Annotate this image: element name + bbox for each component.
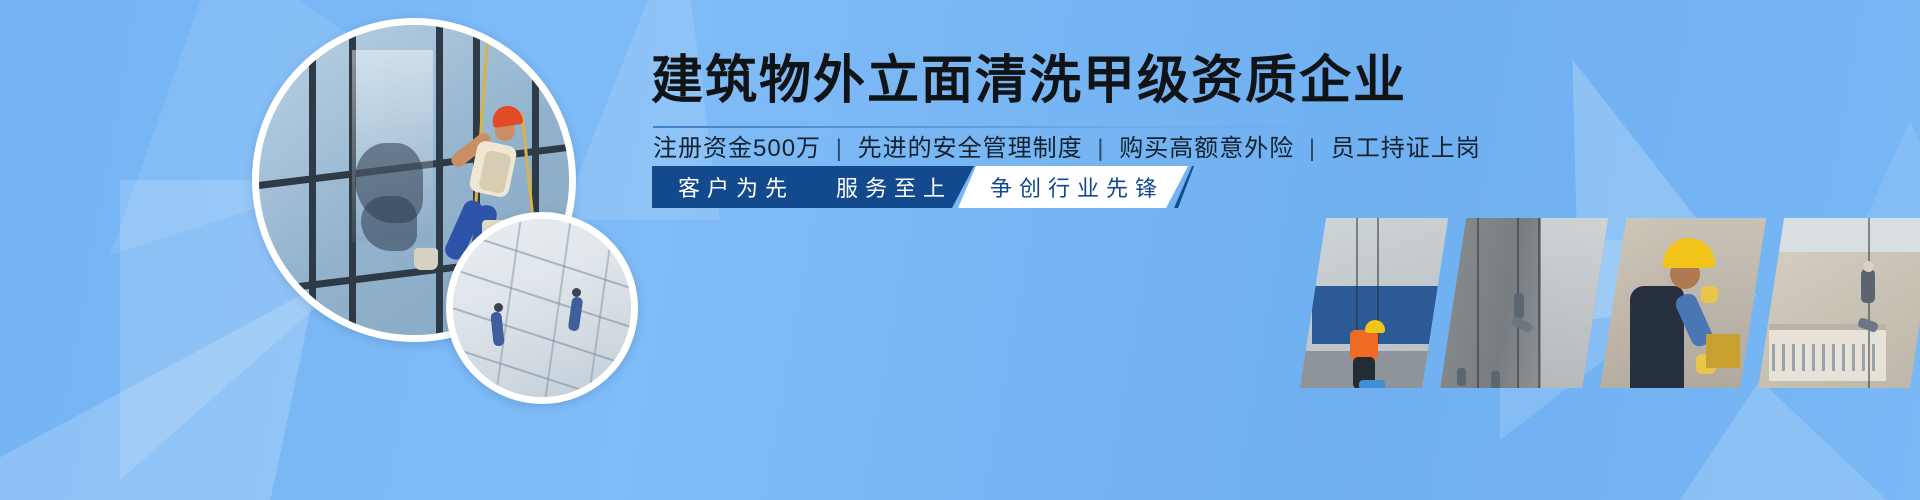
worker-head [1863,261,1874,272]
safety-rope [1356,218,1358,344]
headline-divider [653,126,1293,128]
subtitle-item-2: 先进的安全管理制度 [858,135,1083,162]
wall-left [1440,218,1548,388]
worker-silhouette [1861,269,1875,303]
wall-right [1541,218,1608,388]
montage-slice-4 [1758,218,1920,388]
balcony-wall-scene [1758,218,1920,388]
worker-silhouette [1457,368,1466,386]
montage-slice-3 [1600,218,1766,388]
photo-montage [1300,218,1920,388]
photo-circle-small [446,212,638,404]
safety-rope [1868,218,1870,388]
headline: 建筑物外立面清洗甲级资质企业 [651,52,1407,110]
window-band [1312,286,1448,344]
building-blue-windows [1300,218,1448,388]
slogan-bar: 客户为先 服务至上 争创行业先锋 [652,166,1194,208]
worker-silhouette [1491,371,1500,388]
work-bucket [414,248,438,270]
subtitle-item-4: 员工持证上岗 [1331,135,1481,162]
subtitle-separator: | [1302,135,1323,162]
mullion-vertical [436,25,443,335]
work-panel [1706,334,1740,368]
worker-silhouette [1514,293,1524,319]
banner-content: 建筑物外立面清洗甲级资质企业 注册资金500万 | 先进的安全管理制度 | 购买… [646,0,1646,500]
montage-slice-2 [1440,218,1608,388]
worker-closeup-plastering [1600,218,1766,388]
safety-rope [1538,218,1540,388]
slogan-dark-segment: 客户为先 服务至上 [652,166,974,208]
bg-triangle-7 [1640,380,1920,500]
subtitle-separator: | [829,135,850,162]
slogan-highlight-segment: 争创行业先锋 [958,166,1188,208]
balcony-rail [1772,344,1879,371]
subtitle-separator: | [1090,135,1111,162]
promo-banner: 建筑物外立面清洗甲级资质企业 注册资金500万 | 先进的安全管理制度 | 购买… [0,0,1920,500]
montage-slice-1 [1300,218,1448,388]
subtitle: 注册资金500万 | 先进的安全管理制度 | 购买高额意外险 | 员工持证上岗 [653,133,1481,165]
work-bucket [1359,380,1385,389]
slogan-highlight: 争创行业先锋 [990,171,1164,203]
worker-glove [1701,286,1718,303]
safety-rope [1477,218,1479,388]
slogan-secondary: 服务至上 [836,171,952,203]
silver-wall [453,219,631,397]
worker-head [494,303,503,312]
sky-strip [1758,218,1920,252]
subtitle-item-3: 购买高额意外险 [1119,135,1294,162]
grey-concrete-wall [1440,218,1608,388]
silver-facade-scene [453,219,631,397]
slogan-primary: 客户为先 [678,171,794,203]
subtitle-item-1: 注册资金500万 [653,135,821,162]
worker-vest [1350,330,1378,360]
